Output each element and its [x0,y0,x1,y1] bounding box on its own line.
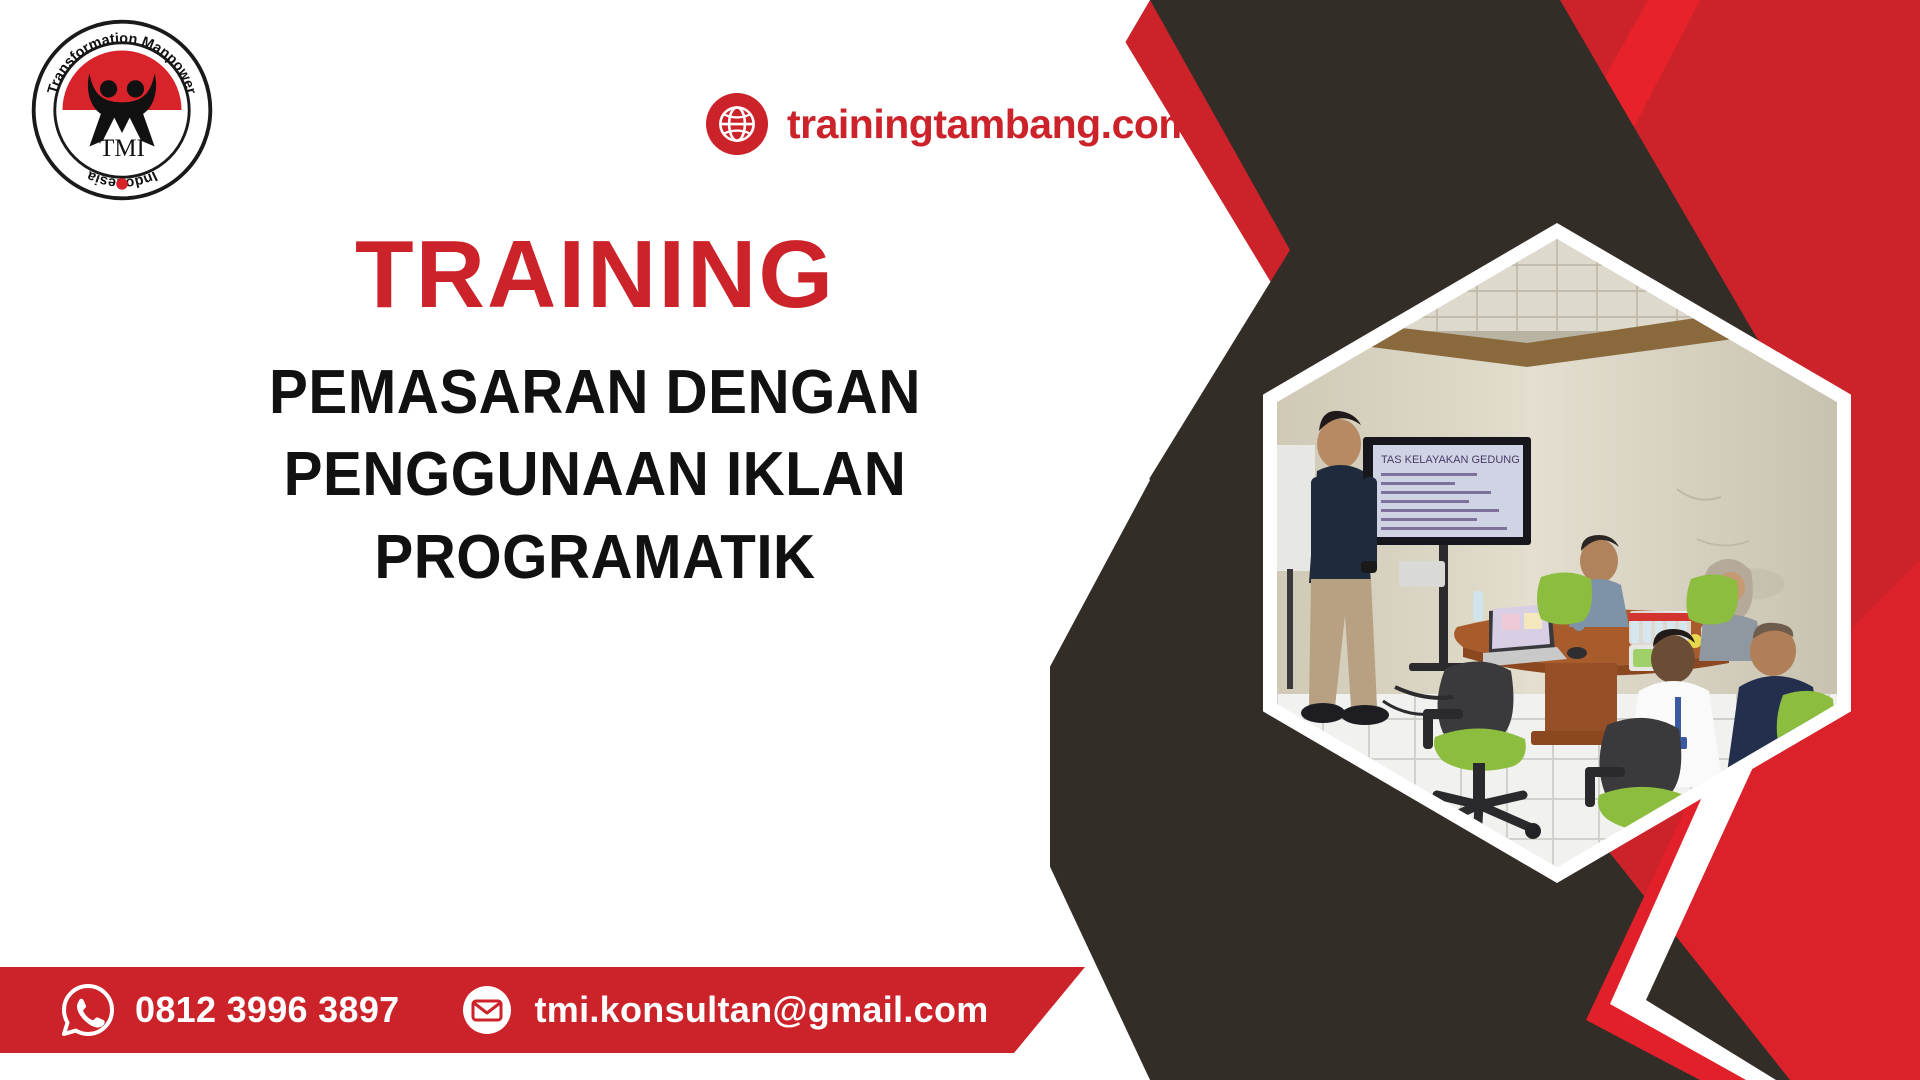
website-url[interactable]: trainingtambang.com [787,104,1194,145]
contact-email[interactable]: tmi.konsultan@gmail.com [459,982,988,1038]
email-address[interactable]: tmi.konsultan@gmail.com [534,992,988,1028]
training-room-photo: TAS KELAYAKAN GEDUNG [1277,239,1837,867]
headline-kicker: TRAINING [120,225,1070,326]
office-chair-right-edge [1777,691,1834,754]
headline-block: TRAINING PEMASARAN DENGAN PENGGUNAAN IKL… [120,225,1070,599]
headline-subtitle-line-1: PEMASARAN DENGAN [149,352,1042,434]
office-chair-far-right [1686,574,1738,624]
headline-subtitle-line-3: PROGRAMATIK [149,517,1042,599]
globe-icon [706,93,768,155]
headline-subtitle-line-2: PENGGUNAAN IKLAN [149,434,1042,516]
logo-monogram: TMI [99,135,145,162]
tmi-logo: TMI Transformation Manpower Indonesia [26,14,218,206]
office-chair-far [1537,572,1592,624]
contact-bar: 0812 3996 3897 tmi.konsultan@gmail.com [0,967,1085,1053]
whatsapp-number[interactable]: 0812 3996 3897 [135,992,399,1028]
photo-hexagon-frame: TAS KELAYAKAN GEDUNG [1263,223,1851,883]
website-row[interactable]: trainingtambang.com [706,93,1194,155]
logo-red-dot [116,178,128,190]
slide-title: TAS KELAYAKAN GEDUNG [1381,454,1520,466]
contact-whatsapp[interactable]: 0812 3996 3897 [60,982,399,1038]
whatsapp-icon [60,982,116,1038]
envelope-icon [459,982,515,1038]
promotional-banner: TMI Transformation Manpower Indonesia tr… [0,0,1920,1080]
